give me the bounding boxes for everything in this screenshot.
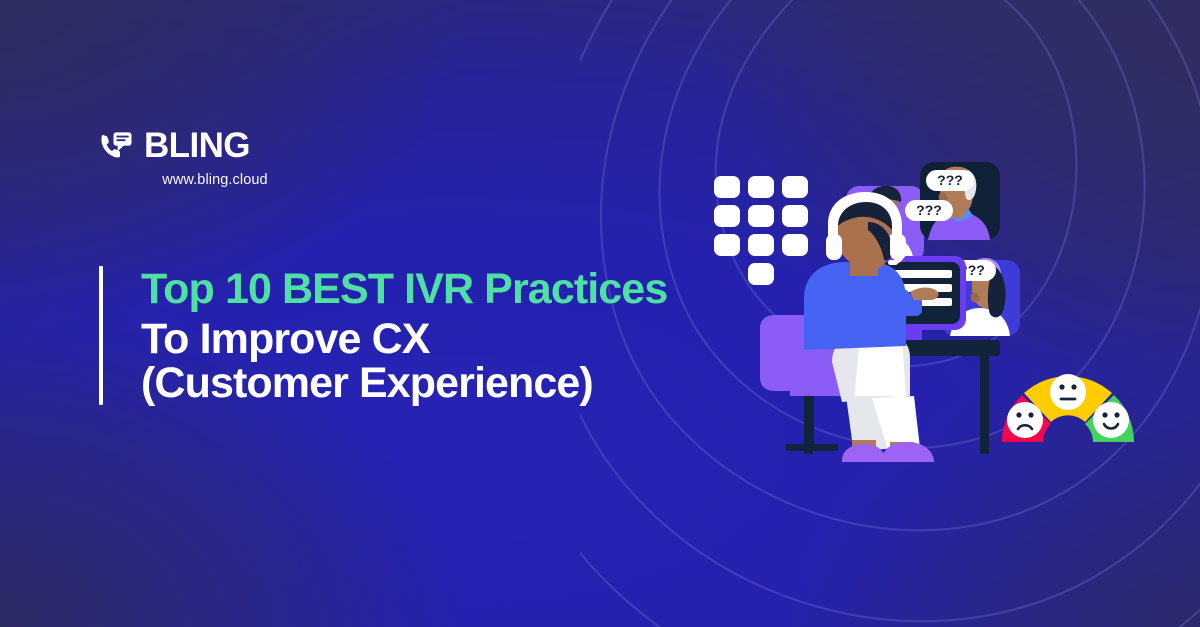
brand-logo[interactable]: BLING www.bling.cloud (99, 128, 399, 188)
happy-face-icon (1093, 402, 1129, 438)
svg-text:???: ??? (937, 172, 963, 188)
dialpad-key (714, 205, 740, 227)
headline-line-2: To Improve CX (141, 316, 667, 362)
question-bubble-2: ??? (926, 170, 974, 191)
headline-accent-bar (99, 266, 103, 405)
svg-text:???: ??? (916, 202, 942, 218)
brand-url[interactable]: www.bling.cloud (99, 172, 331, 188)
headline-text: Top 10 BEST IVR Practices To Improve CX … (141, 266, 667, 406)
headline-block: Top 10 BEST IVR Practices To Improve CX … (99, 266, 667, 406)
blog-banner: BLING www.bling.cloud Top 10 BEST IVR Pr… (0, 0, 1200, 627)
agent-legs (842, 396, 934, 462)
brand-name: BLING (144, 128, 250, 163)
neutral-face-icon (1050, 374, 1086, 410)
satisfaction-gauge-icon (998, 342, 1138, 446)
headline-line-3: (Customer Experience) (141, 360, 667, 406)
question-bubble-1: ??? (905, 200, 953, 221)
dialpad-key (714, 176, 740, 198)
headline-line-1: Top 10 BEST IVR Practices (141, 266, 667, 312)
dialpad-key (714, 234, 740, 256)
phone-chat-icon (99, 130, 135, 162)
